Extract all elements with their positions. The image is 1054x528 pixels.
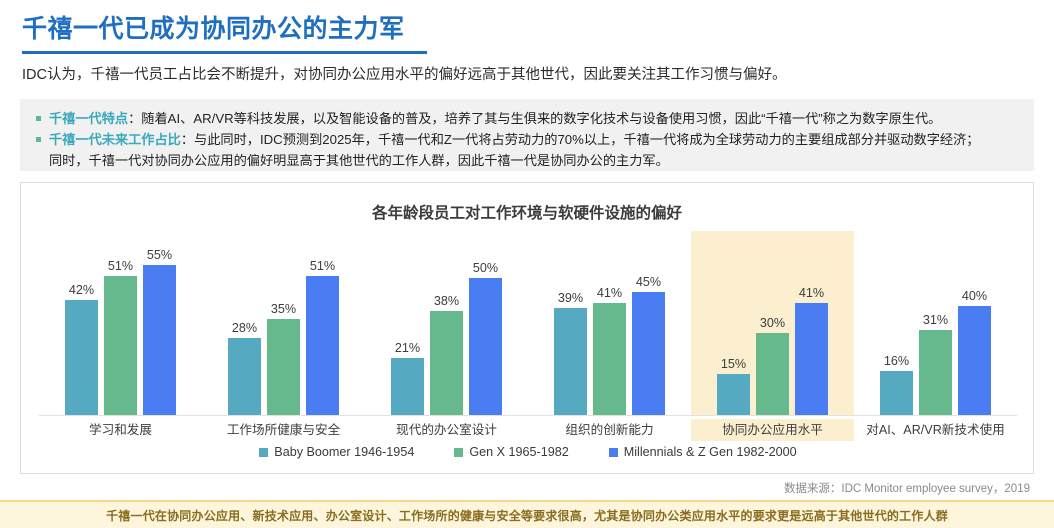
chart-panel: 各年龄段员工对工作环境与软硬件设施的偏好 42%51%55%28%35%51%2… [20, 182, 1034, 474]
title-underline [22, 51, 427, 54]
bar[interactable] [795, 303, 828, 415]
category-label: 学习和发展 [39, 419, 202, 441]
bar-item[interactable]: 39% [554, 229, 587, 415]
bullet-square-icon [36, 137, 41, 142]
bar[interactable] [958, 306, 991, 415]
bar-value-label: 55% [147, 248, 172, 262]
bar-item[interactable]: 41% [795, 229, 828, 415]
legend-swatch-icon [259, 448, 268, 457]
bar-value-label: 30% [760, 316, 785, 330]
bar-item[interactable]: 21% [391, 229, 424, 415]
bar-value-label: 35% [271, 302, 296, 316]
bar-item[interactable]: 51% [306, 229, 339, 415]
bar-value-label: 51% [310, 259, 335, 273]
bar-item[interactable]: 40% [958, 229, 991, 415]
bar-value-label: 39% [558, 291, 583, 305]
bar-value-label: 42% [69, 283, 94, 297]
legend-swatch-icon [454, 448, 463, 457]
legend-label: Baby Boomer 1946-1954 [274, 445, 414, 459]
footer-banner: 千禧一代在协同办公应用、新技术应用、办公室设计、工作场所的健康与安全等要求很高，… [0, 500, 1054, 528]
chart-legend: Baby Boomer 1946-1954Gen X 1965-1982Mill… [21, 445, 1035, 459]
category-label: 现代的办公室设计 [365, 419, 528, 441]
legend-label: Millennials & Z Gen 1982-2000 [624, 445, 797, 459]
bar-value-label: 38% [434, 294, 459, 308]
bar[interactable] [430, 311, 463, 415]
bar[interactable] [554, 308, 587, 415]
bar[interactable] [593, 303, 626, 415]
bar-value-label: 15% [721, 357, 746, 371]
bar-item[interactable]: 41% [593, 229, 626, 415]
bar-value-label: 41% [799, 286, 824, 300]
bar-group: 16%31%40% [854, 229, 1017, 415]
bar[interactable] [306, 276, 339, 415]
bar-item[interactable]: 42% [65, 229, 98, 415]
source-note: 数据来源：IDC Monitor employee survey，2019 [784, 480, 1030, 496]
bar-item[interactable]: 15% [717, 229, 750, 415]
key-points-panel: 千禧一代特点：随着AI、AR/VR等科技发展，以及智能设备的普及，培养了其与生俱… [20, 99, 1034, 171]
bar-value-label: 51% [108, 259, 133, 273]
bar-group: 39%41%45% [528, 229, 691, 415]
page-title: 千禧一代已成为协同办公的主力军 [22, 14, 405, 48]
bar-group: 15%30%41% [691, 229, 854, 415]
bar[interactable] [391, 358, 424, 415]
bar-value-label: 41% [597, 286, 622, 300]
bar[interactable] [632, 292, 665, 415]
bar-group: 28%35%51% [202, 229, 365, 415]
page-subtitle: IDC认为，千禧一代员工占比会不断提升，对协同办公应用水平的偏好远高于其他世代，… [22, 65, 1032, 85]
legend-item[interactable]: Millennials & Z Gen 1982-2000 [609, 445, 797, 459]
bullet-continuation: 同时，千禧一代对协同办公应用的偏好明显高于其他世代的工作人群，因此千禧一代是协同… [36, 151, 1020, 170]
bar-item[interactable]: 45% [632, 229, 665, 415]
bar-value-label: 31% [923, 313, 948, 327]
legend-item[interactable]: Gen X 1965-1982 [454, 445, 568, 459]
bar[interactable] [919, 330, 952, 415]
list-item: 千禧一代未来工作占比：与此同时，IDC预测到2025年，千禧一代和Z一代将占劳动… [36, 130, 1020, 149]
bar-item[interactable]: 16% [880, 229, 913, 415]
bar-groups: 42%51%55%28%35%51%21%38%50%39%41%45%15%3… [39, 229, 1017, 415]
bar[interactable] [267, 319, 300, 415]
list-item: 千禧一代特点：随着AI、AR/VR等科技发展，以及智能设备的普及，培养了其与生俱… [36, 109, 1020, 128]
bar-item[interactable]: 55% [143, 229, 176, 415]
bar-item[interactable]: 50% [469, 229, 502, 415]
bullet-detail: ：与此同时，IDC预测到2025年，千禧一代和Z一代将占劳动力的70%以上，千禧… [181, 132, 980, 147]
bar-chart-plot: 42%51%55%28%35%51%21%38%50%39%41%45%15%3… [21, 183, 1035, 475]
bar-value-label: 40% [962, 289, 987, 303]
bullet-text: 千禧一代未来工作占比：与此同时，IDC预测到2025年，千禧一代和Z一代将占劳动… [49, 130, 1020, 149]
category-axis-labels: 学习和发展工作场所健康与安全现代的办公室设计组织的创新能力协同办公应用水平对AI… [39, 419, 1017, 441]
bullet-detail: ：随着AI、AR/VR等科技发展，以及智能设备的普及，培养了其与生俱来的数字化技… [128, 111, 941, 126]
page-header: 千禧一代已成为协同办公的主力军 IDC认为，千禧一代员工占比会不断提升，对协同办… [0, 0, 1054, 85]
bar[interactable] [880, 371, 913, 415]
bar-item[interactable]: 31% [919, 229, 952, 415]
bar-value-label: 45% [636, 275, 661, 289]
bar-value-label: 16% [884, 354, 909, 368]
bar-value-label: 21% [395, 341, 420, 355]
bar[interactable] [469, 278, 502, 415]
category-label: 工作场所健康与安全 [202, 419, 365, 441]
bar-item[interactable]: 30% [756, 229, 789, 415]
bullet-label: 千禧一代特点 [49, 111, 128, 126]
x-axis-line [39, 415, 1017, 416]
category-label: 对AI、AR/VR新技术使用 [854, 419, 1017, 441]
bar[interactable] [104, 276, 137, 415]
bar-value-label: 28% [232, 321, 257, 335]
legend-swatch-icon [609, 448, 618, 457]
bar[interactable] [756, 333, 789, 415]
bar-item[interactable]: 51% [104, 229, 137, 415]
bar[interactable] [143, 265, 176, 415]
legend-item[interactable]: Baby Boomer 1946-1954 [259, 445, 414, 459]
bar-item[interactable]: 38% [430, 229, 463, 415]
bullet-square-icon [36, 116, 41, 121]
bar[interactable] [65, 300, 98, 415]
bar[interactable] [228, 338, 261, 415]
bar-value-label: 50% [473, 261, 498, 275]
category-label: 组织的创新能力 [528, 419, 691, 441]
category-label: 协同办公应用水平 [691, 419, 854, 441]
bar-group: 42%51%55% [39, 229, 202, 415]
legend-label: Gen X 1965-1982 [469, 445, 568, 459]
bar-item[interactable]: 28% [228, 229, 261, 415]
bullet-label: 千禧一代未来工作占比 [49, 132, 181, 147]
bar-item[interactable]: 35% [267, 229, 300, 415]
bullet-text: 千禧一代特点：随着AI、AR/VR等科技发展，以及智能设备的普及，培养了其与生俱… [49, 109, 1020, 128]
bar-group: 21%38%50% [365, 229, 528, 415]
bar[interactable] [717, 374, 750, 415]
footer-banner-text: 千禧一代在协同办公应用、新技术应用、办公室设计、工作场所的健康与安全等要求很高，… [106, 507, 948, 524]
